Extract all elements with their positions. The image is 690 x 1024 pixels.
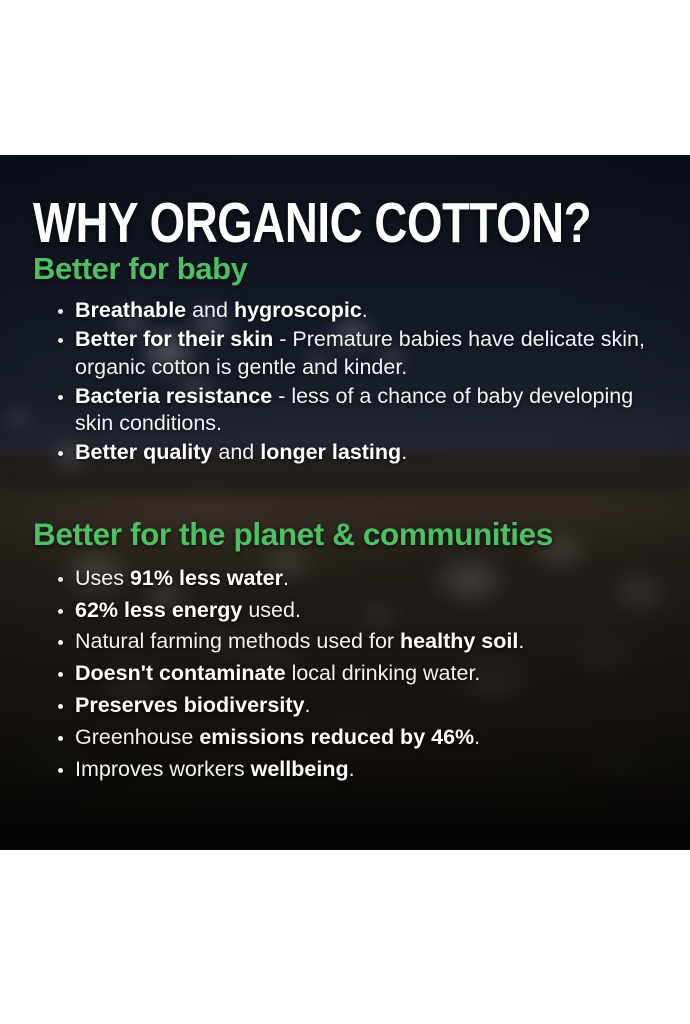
- bullet-text: .: [304, 693, 310, 717]
- page-root: WHY ORGANIC COTTON? Better for baby Brea…: [0, 0, 690, 1024]
- bullet-text: and: [186, 298, 234, 322]
- bullet-emphasis: Breathable: [75, 298, 186, 322]
- bullet-text: Natural farming methods used for: [75, 629, 400, 653]
- list-item: 62% less energy used.: [57, 597, 660, 625]
- list-item: Natural farming methods used for healthy…: [57, 628, 660, 656]
- list-item: Improves workers wellbeing.: [57, 756, 660, 784]
- bullet-text: Uses: [75, 566, 130, 590]
- bullet-emphasis: 91% less water: [130, 566, 283, 590]
- list-item: Greenhouse emissions reduced by 46%.: [57, 724, 660, 752]
- page-title: WHY ORGANIC COTTON?: [33, 195, 535, 252]
- bullet-emphasis: Bacteria resistance: [75, 384, 272, 408]
- list-item: Better quality and longer lasting.: [57, 439, 660, 467]
- section-better-for-baby: Better for baby Breathable and hygroscop…: [33, 252, 660, 467]
- list-item: Preserves biodiversity.: [57, 692, 660, 720]
- bullet-text: .: [401, 440, 407, 464]
- bullet-emphasis: longer lasting: [260, 440, 401, 464]
- bullet-emphasis: wellbeing: [251, 757, 349, 781]
- list-item: Uses 91% less water.: [57, 565, 660, 593]
- section-better-for-planet: Better for the planet & communities Uses…: [33, 517, 660, 784]
- bullet-emphasis: Doesn't contaminate: [75, 661, 286, 685]
- section-heading-planet: Better for the planet & communities: [33, 517, 660, 552]
- section-heading-baby: Better for baby: [33, 252, 660, 287]
- list-item: Doesn't contaminate local drinking water…: [57, 660, 660, 688]
- bullet-emphasis: hygroscopic: [234, 298, 362, 322]
- bullet-emphasis: 62% less energy: [75, 598, 242, 622]
- bullet-text: Greenhouse: [75, 725, 199, 749]
- list-item: Breathable and hygroscopic.: [57, 297, 660, 325]
- bullet-emphasis: Better for their skin: [75, 327, 273, 351]
- list-item: Better for their skin - Premature babies…: [57, 326, 660, 382]
- bullet-emphasis: Better quality: [75, 440, 212, 464]
- bullet-text: Improves workers: [75, 757, 251, 781]
- bullet-list-planet: Uses 91% less water.62% less energy used…: [33, 565, 660, 785]
- bullet-text: and: [212, 440, 260, 464]
- bullet-emphasis: Preserves biodiversity: [75, 693, 304, 717]
- bullet-emphasis: emissions reduced by 46%: [199, 725, 474, 749]
- bullet-text: .: [362, 298, 368, 322]
- bullet-text: .: [518, 629, 524, 653]
- bullet-text: local drinking water.: [286, 661, 481, 685]
- bullet-list-baby: Breathable and hygroscopic.Better for th…: [33, 297, 660, 468]
- bullet-text: .: [349, 757, 355, 781]
- bullet-text: .: [474, 725, 480, 749]
- bullet-text: used.: [242, 598, 301, 622]
- infographic-card: WHY ORGANIC COTTON? Better for baby Brea…: [0, 155, 690, 850]
- bullet-text: .: [283, 566, 289, 590]
- list-item: Bacteria resistance - less of a chance o…: [57, 383, 660, 439]
- infographic-content: WHY ORGANIC COTTON? Better for baby Brea…: [0, 155, 690, 784]
- bullet-emphasis: healthy soil: [400, 629, 518, 653]
